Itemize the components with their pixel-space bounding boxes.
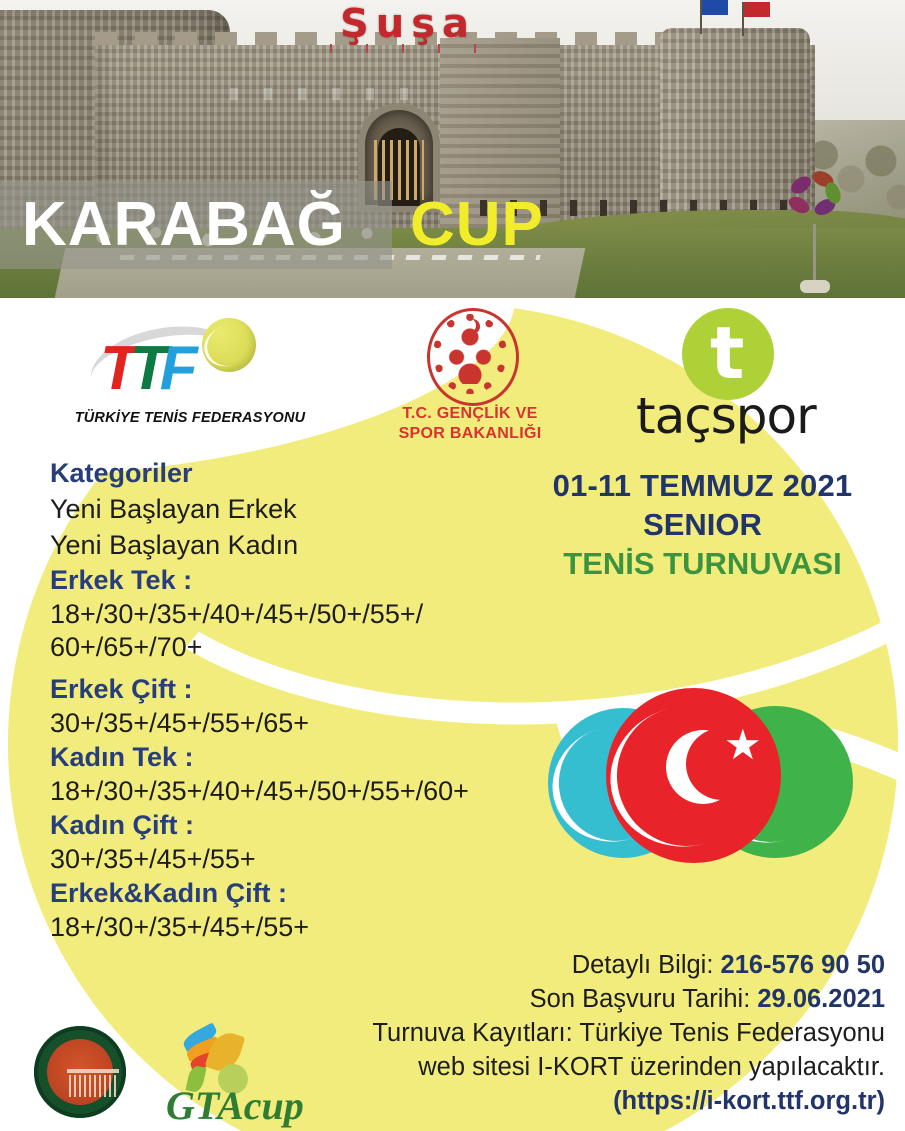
tacspor-logo: t taçspor <box>630 306 880 451</box>
contact-deadline-line: Son Başvuru Tarihi: 29.06.2021 <box>320 982 885 1016</box>
group-label-erkek-tek: Erkek Tek : <box>50 563 520 598</box>
group-values-karisik-cift: 18+/30+/35+/45+/55+ <box>50 911 520 944</box>
pinwheel-sculpture <box>788 172 842 234</box>
ministry-line-1: T.C. GENÇLİK VE <box>375 404 565 424</box>
ministry-logo-text: T.C. GENÇLİK VE SPOR BAKANLIĞI <box>375 404 565 444</box>
event-level: SENIOR <box>520 505 885 544</box>
sponsor-logo-row: TTF TÜRKİYE TENİS FEDERASYONU T.C. GENÇL… <box>0 306 905 446</box>
ttf-letter-2: T <box>130 334 160 403</box>
club-logo-inner <box>47 1039 113 1105</box>
tennis-balls-graphic: ★ <box>548 688 878 868</box>
ministry-line-2: SPOR BAKANLIĞI <box>375 424 565 444</box>
group-values-kadin-tek: 18+/30+/35+/40+/45+/50+/55+/60+ <box>50 775 520 808</box>
categories-heading: Kategoriler <box>50 456 520 491</box>
contact-info-label: Detaylı Bilgi: <box>572 951 721 979</box>
ttf-logo: TTF TÜRKİYE TENİS FEDERASYONU <box>70 314 310 444</box>
fortress-photo: Şuşa KARABAĞ CUP <box>0 0 905 298</box>
poster-title-accent: CUP <box>410 186 544 264</box>
ttf-monogram: TTF <box>100 338 190 400</box>
pinwheel-blade-3 <box>786 193 812 216</box>
tennis-ball-icon <box>202 318 256 372</box>
tacspor-letter-mark: t <box>710 320 744 386</box>
ttf-letter-3: F <box>160 334 190 403</box>
event-dates: 01-11 TEMMUZ 2021 <box>520 466 885 505</box>
poster-title-main: KARABAĞ <box>22 186 346 264</box>
bridge-icon <box>69 1075 117 1097</box>
flagpole-right <box>742 2 744 36</box>
ttf-letter-1: T <box>100 334 130 403</box>
gtacup-wordmark: GTAcup <box>166 1084 304 1128</box>
ttf-logo-name: TÜRKİYE TENİS FEDERASYONU <box>74 410 306 426</box>
susa-sign-text: Şuşa <box>318 2 498 48</box>
pinwheel-blade-1 <box>788 173 814 197</box>
flag-cloth-azerbaijan <box>702 0 728 15</box>
contact-block: Detaylı Bilgi: 216-576 90 50 Son Başvuru… <box>320 948 885 1118</box>
susa-sign-supports <box>330 44 485 53</box>
group-label-kadin-tek: Kadın Tek : <box>50 740 520 775</box>
atasehir-club-logo <box>34 1026 126 1118</box>
group-values-kadin-cift: 30+/35+/45+/55+ <box>50 843 520 876</box>
pinwheel-base <box>800 280 830 293</box>
group-values-erkek-tek-1: 18+/30+/35+/40+/45+/50+/55+/ <box>50 598 520 631</box>
deadline-label: Son Başvuru Tarihi: <box>530 985 758 1013</box>
flag-cloth-turkey <box>744 2 770 17</box>
event-info-block: 01-11 TEMMUZ 2021 SENIOR TENİS TURNUVASI <box>520 466 885 583</box>
categories-block: Kategoriler Yeni Başlayan Erkek Yeni Baş… <box>50 456 520 944</box>
fortress-upper-openings <box>230 88 430 100</box>
group-values-erkek-tek-2: 60+/65+/70+ <box>50 631 520 664</box>
event-type: TENİS TURNUVASI <box>520 544 885 583</box>
ministry-logo: T.C. GENÇLİK VE SPOR BAKANLIĞI <box>375 308 565 448</box>
contact-phone: 216-576 90 50 <box>721 951 885 979</box>
tacspor-wordmark: taçspor <box>636 388 876 444</box>
group-label-kadin-cift: Kadın Çift : <box>50 808 520 843</box>
pinwheel-pole <box>813 224 816 282</box>
contact-info-line: Detaylı Bilgi: 216-576 90 50 <box>320 948 885 982</box>
registration-line-2: web sitesi I-KORT üzerinden yapılacaktır… <box>320 1050 885 1084</box>
deadline-date: 29.06.2021 <box>757 985 885 1013</box>
flagpole-left <box>700 0 702 34</box>
footer-logo-row: GTAcup <box>28 1020 358 1130</box>
beginner-men: Yeni Başlayan Erkek <box>50 491 520 527</box>
beginner-women: Yeni Başlayan Kadın <box>50 527 520 563</box>
poster-body: TTF TÜRKİYE TENİS FEDERASYONU T.C. GENÇL… <box>0 298 905 1131</box>
group-label-erkek-cift: Erkek Çift : <box>50 672 520 707</box>
registration-line-1: Turnuva Kayıtları: Türkiye Tenis Federas… <box>320 1016 885 1050</box>
group-label-karisik-cift: Erkek&Kadın Çift : <box>50 876 520 911</box>
ministry-figures-icon <box>449 328 491 384</box>
group-values-erkek-cift: 30+/35+/45+/55+/65+ <box>50 707 520 740</box>
tournament-poster: Şuşa KARABAĞ CUP TTF TÜRKİYE TENİS FEDER… <box>0 0 905 1131</box>
registration-url[interactable]: (https://i-kort.ttf.org.tr) <box>320 1084 885 1118</box>
